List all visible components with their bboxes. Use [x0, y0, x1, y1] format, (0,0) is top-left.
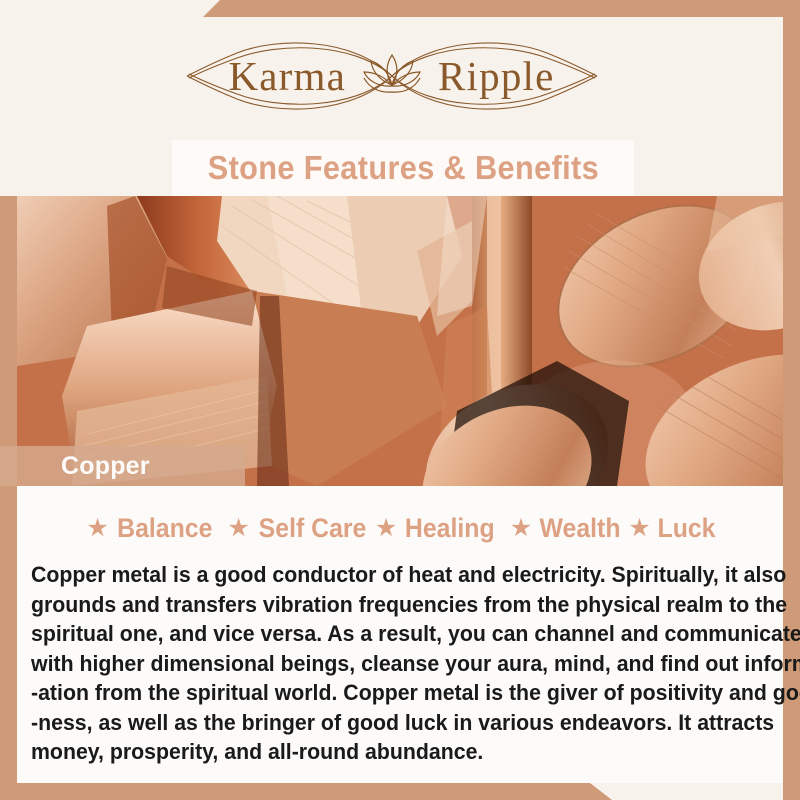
description-line: -ation from the spiritual world. Copper …	[31, 678, 738, 708]
frame-left-accent	[0, 196, 17, 800]
description-line: Copper metal is a good conductor of heat…	[31, 560, 738, 590]
frame-bottom-accent	[0, 783, 620, 800]
brand-name-left: Karma	[228, 56, 346, 97]
brand-name-right: Ripple	[438, 56, 555, 97]
description-line: spiritual one, and vice versa. As a resu…	[31, 619, 738, 649]
content-panel: ★ Balance ★ Self Care ★ Healing ★ Wealth…	[17, 486, 783, 783]
keyword-healing: Healing	[405, 513, 495, 544]
stone-name-badge: Copper	[0, 446, 245, 486]
star-icon: ★	[506, 513, 536, 543]
description-block: Copper metal is a good conductor of heat…	[17, 554, 783, 767]
brand-logo: Karma Ripple	[0, 17, 783, 135]
copper-bars-illustration	[17, 196, 783, 486]
keyword-wealth: Wealth	[540, 513, 621, 544]
keyword-balance: Balance	[117, 513, 212, 544]
description-line: with higher dimensional beings, cleanse …	[31, 649, 738, 679]
star-icon: ★	[223, 513, 253, 543]
star-icon: ★	[624, 513, 654, 543]
product-infographic-card: Karma Ripple Stone Features & Benefits	[0, 0, 800, 800]
section-title-band: Stone Features & Benefits	[172, 140, 634, 196]
description-line: -ness, as well as the bringer of good lu…	[31, 708, 738, 738]
frame-top-accent	[0, 0, 800, 17]
stone-name-label: Copper	[0, 452, 150, 481]
star-icon: ★	[82, 513, 112, 543]
hero-image	[17, 196, 783, 486]
page-title: Stone Features & Benefits	[207, 149, 598, 187]
benefit-keywords-row: ★ Balance ★ Self Care ★ Healing ★ Wealth…	[17, 486, 783, 554]
keyword-self-care: Self Care	[258, 513, 366, 544]
description-line: money, prosperity, and all-round abundan…	[31, 737, 738, 767]
description-line: grounds and transfers vibration frequenc…	[31, 590, 738, 620]
star-icon: ★	[371, 513, 401, 543]
keyword-luck: Luck	[657, 513, 715, 544]
